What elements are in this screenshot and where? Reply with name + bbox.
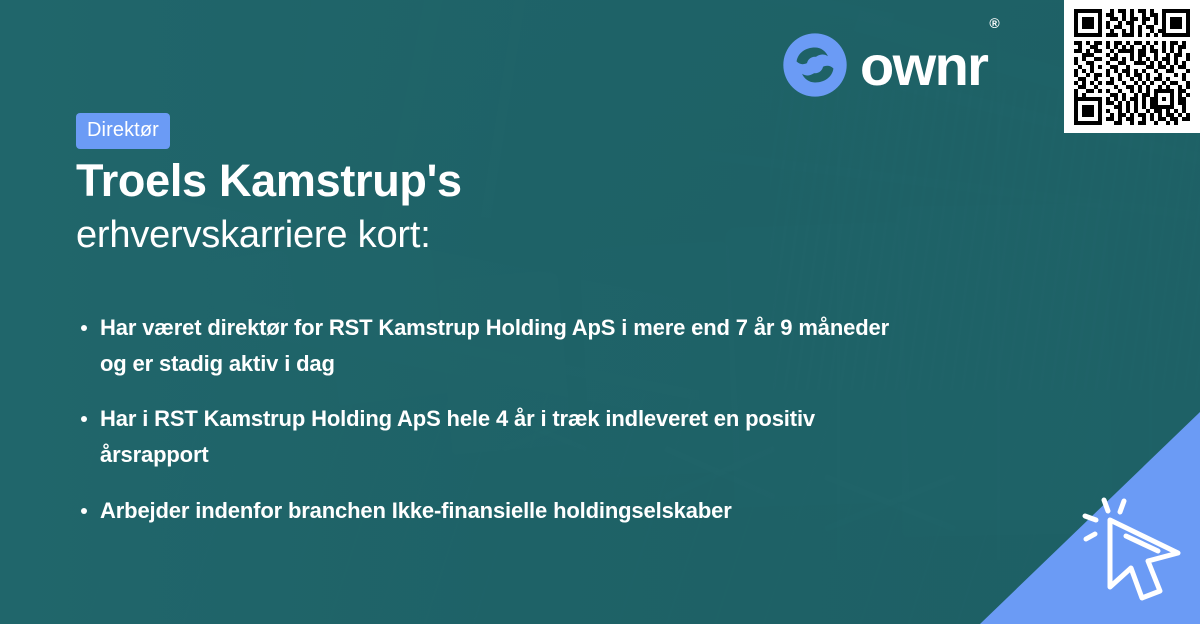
qr-code[interactable] [1064,0,1200,133]
registered-trademark-icon: ® [989,15,999,31]
click-cursor-icon [1074,487,1194,612]
bullet-dot-icon [81,416,87,422]
bullet-dot-icon [81,508,87,514]
ownr-logo[interactable]: ownr® [782,32,998,98]
ownr-wordmark: ownr® [860,36,998,94]
bullet-dot-icon [81,325,87,331]
list-item-text: Har været direktør for RST Kamstrup Hold… [100,310,898,381]
role-badge: Direktør [76,113,170,149]
career-highlights-list: Har været direktør for RST Kamstrup Hold… [78,310,898,548]
list-item: Har i RST Kamstrup Holding ApS hele 4 år… [78,401,898,472]
list-item-text: Arbejder indenfor branchen Ikke-finansie… [100,493,732,529]
ownr-circle-mark-icon [782,32,848,98]
list-item: Arbejder indenfor branchen Ikke-finansie… [78,493,898,529]
corner-decoration [980,412,1200,624]
list-item: Har været direktør for RST Kamstrup Hold… [78,310,898,381]
ownr-profile-card: Direktør Troels Kamstrup's erhvervskarri… [0,0,1200,624]
headline-line-1: Troels Kamstrup's [76,155,462,207]
list-item-text: Har i RST Kamstrup Holding ApS hele 4 år… [100,401,898,472]
ownr-wordmark-text: ownr [860,34,987,97]
page-title: Troels Kamstrup's erhvervskarriere kort: [76,155,462,259]
headline-line-2: erhvervskarriere kort: [76,213,462,259]
